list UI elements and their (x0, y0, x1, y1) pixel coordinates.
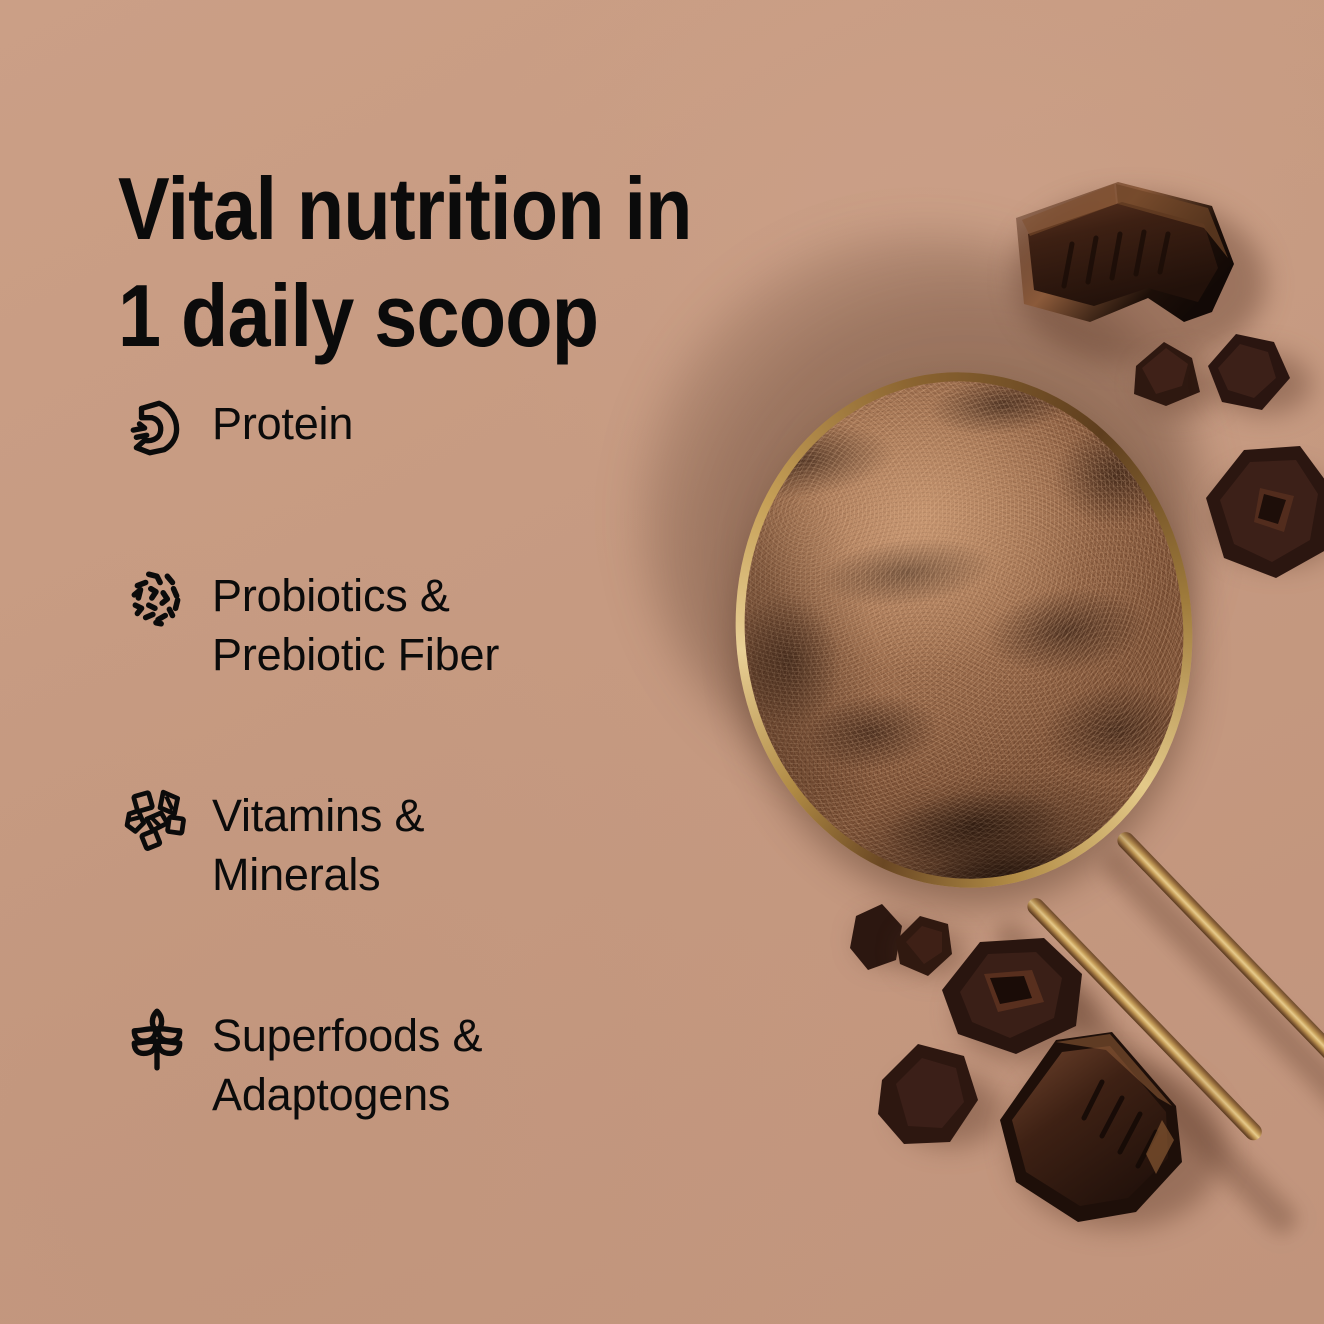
feature-item-vitamins: Vitamins & Minerals (124, 784, 424, 905)
feature-item-superfoods: Superfoods & Adaptogens (124, 1004, 482, 1125)
chocolate-chunk-mid-right (1198, 436, 1324, 586)
feature-label: Superfoods & Adaptogens (212, 1004, 482, 1125)
scoop-powder-well (720, 359, 1208, 900)
feature-item-protein: Protein (124, 392, 353, 460)
feature-label: Probiotics & Prebiotic Fiber (212, 564, 499, 685)
powder-lighting (720, 359, 1208, 900)
chocolate-wedge-bottom (986, 1016, 1208, 1246)
measuring-scoop (710, 350, 1217, 911)
feature-item-probiotics: Probiotics & Prebiotic Fiber (124, 564, 499, 685)
product-marketing-image: Vital nutrition in 1 daily scoop Protein (0, 0, 1324, 1324)
feature-label: Protein (212, 392, 353, 453)
chocolate-chunk-small-b (1196, 326, 1300, 420)
chocolate-flake-below-d (872, 1034, 988, 1156)
microbe-icon (124, 566, 190, 632)
bicep-icon (124, 394, 190, 460)
pills-icon (124, 786, 190, 852)
page-title: Vital nutrition in 1 daily scoop (118, 155, 787, 370)
wheat-icon (124, 1006, 190, 1072)
feature-label: Vitamins & Minerals (212, 784, 424, 905)
